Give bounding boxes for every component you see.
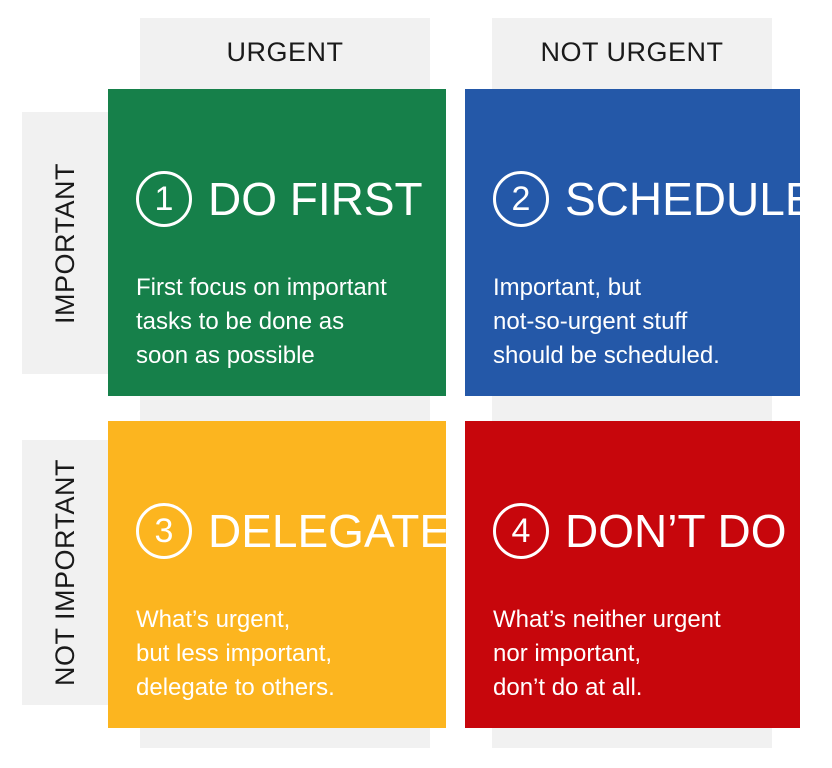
body-line: delegate to others. xyxy=(136,671,418,705)
body-line: tasks to be done as xyxy=(136,305,418,339)
body-line: What’s urgent, xyxy=(136,603,418,637)
quadrant-do-first-header: 1 DO FIRST xyxy=(136,89,418,251)
body-line: should be scheduled. xyxy=(493,339,772,373)
quadrant-schedule-header: 2 SCHEDULE xyxy=(493,89,772,251)
row-header-not-important-label: NOT IMPORTANT xyxy=(50,459,81,686)
quadrant-dont-do-body: What’s neither urgent nor important, don… xyxy=(493,603,772,705)
quadrant-delegate-body: What’s urgent, but less important, deleg… xyxy=(136,603,418,705)
eisenhower-matrix: URGENT NOT URGENT IMPORTANT NOT IMPORTAN… xyxy=(0,0,832,768)
body-line: nor important, xyxy=(493,637,772,671)
number-badge-icon: 2 xyxy=(493,171,549,227)
quadrant-do-first-title: DO FIRST xyxy=(208,176,423,222)
number-badge-icon: 3 xyxy=(136,503,192,559)
quadrant-dont-do-header: 4 DON’T DO xyxy=(493,421,772,583)
row-header-important-label: IMPORTANT xyxy=(50,162,81,323)
body-line: not-so-urgent stuff xyxy=(493,305,772,339)
quadrant-delegate[interactable]: 3 DELEGATE What’s urgent, but less impor… xyxy=(108,421,446,728)
quadrant-schedule-body: Important, but not-so-urgent stuff shoul… xyxy=(493,271,772,373)
body-line: What’s neither urgent xyxy=(493,603,772,637)
body-line: don’t do at all. xyxy=(493,671,772,705)
quadrant-delegate-title: DELEGATE xyxy=(208,508,450,554)
number-badge-icon: 4 xyxy=(493,503,549,559)
quadrant-do-first-body: First focus on important tasks to be don… xyxy=(136,271,418,373)
row-header-important: IMPORTANT xyxy=(22,112,108,374)
quadrant-dont-do[interactable]: 4 DON’T DO What’s neither urgent nor imp… xyxy=(465,421,800,728)
quadrant-do-first[interactable]: 1 DO FIRST First focus on important task… xyxy=(108,89,446,396)
quadrant-schedule[interactable]: 2 SCHEDULE Important, but not-so-urgent … xyxy=(465,89,800,396)
number-badge-icon: 1 xyxy=(136,171,192,227)
body-line: First focus on important xyxy=(136,271,418,305)
body-line: Important, but xyxy=(493,271,772,305)
body-line: soon as possible xyxy=(136,339,418,373)
quadrant-dont-do-title: DON’T DO xyxy=(565,508,787,554)
column-header-urgent: URGENT xyxy=(140,32,430,72)
quadrant-schedule-title: SCHEDULE xyxy=(565,176,816,222)
body-line: but less important, xyxy=(136,637,418,671)
quadrant-delegate-header: 3 DELEGATE xyxy=(136,421,418,583)
column-header-not-urgent: NOT URGENT xyxy=(492,32,772,72)
row-header-not-important: NOT IMPORTANT xyxy=(22,440,108,705)
